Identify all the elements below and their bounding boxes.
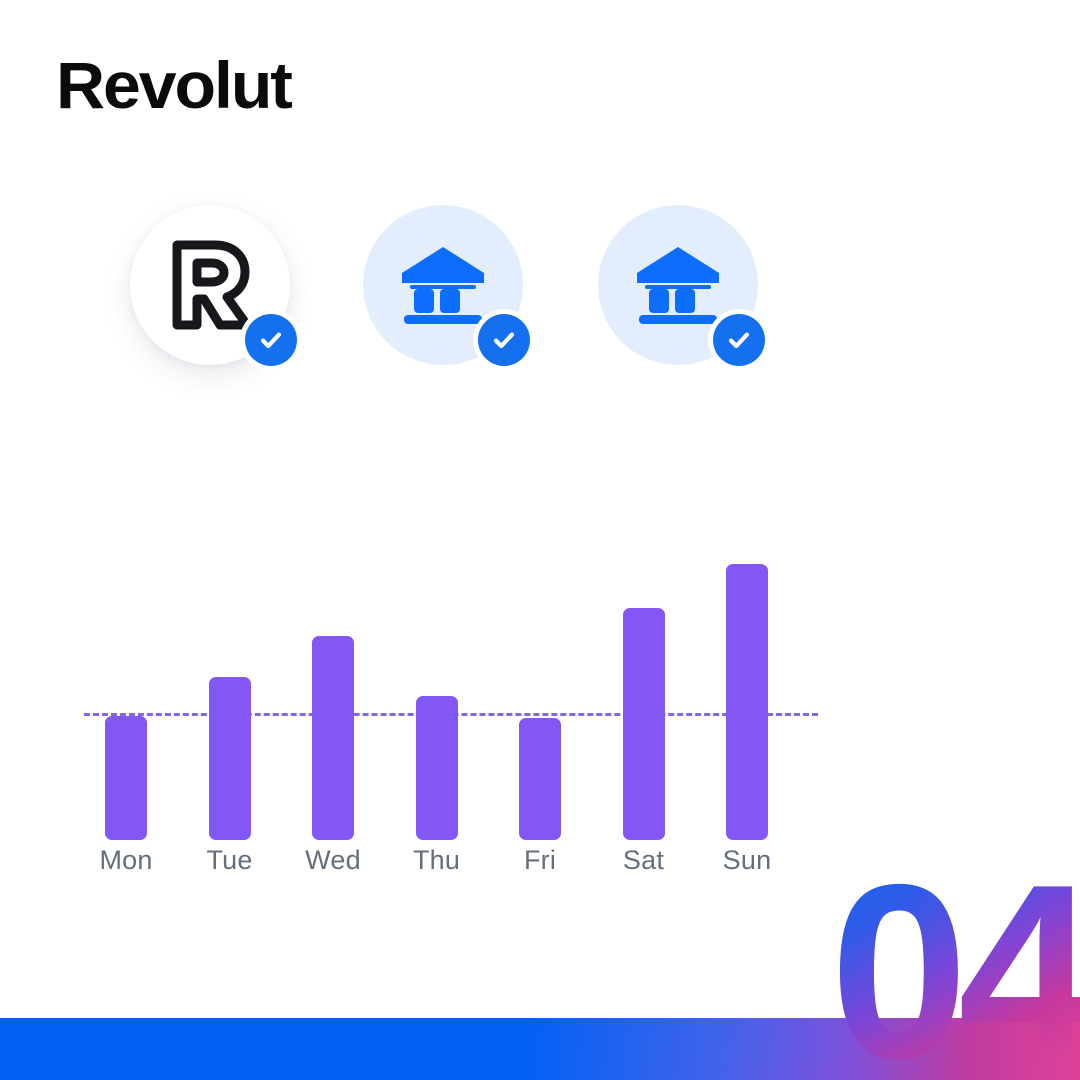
x-label-fri: Fri	[495, 845, 585, 876]
x-label-mon: Mon	[81, 845, 171, 876]
account-card-bank-1[interactable]	[363, 205, 523, 365]
slide-canvas: Revolut	[0, 0, 1080, 1080]
chart-x-axis-labels: MonTueWedThuFriSatSun	[84, 845, 824, 885]
bar-tue[interactable]	[209, 677, 251, 840]
slide-number: 04	[830, 865, 1080, 1078]
x-label-wed: Wed	[288, 845, 378, 876]
chart-plot-area	[84, 550, 824, 840]
account-card-bank-2[interactable]	[598, 205, 758, 365]
x-label-tue: Tue	[185, 845, 275, 876]
connected-accounts-row	[0, 0, 1080, 420]
verified-badge	[473, 309, 535, 371]
bar-wed[interactable]	[312, 636, 354, 840]
bar-sun[interactable]	[726, 564, 768, 840]
x-label-sat: Sat	[599, 845, 689, 876]
verified-badge	[240, 309, 302, 371]
account-card-revolut[interactable]	[130, 205, 290, 365]
bar-sat[interactable]	[623, 608, 665, 840]
bar-fri[interactable]	[519, 718, 561, 840]
verified-badge	[708, 309, 770, 371]
bar-mon[interactable]	[105, 716, 147, 840]
x-label-thu: Thu	[392, 845, 482, 876]
x-label-sun: Sun	[702, 845, 792, 876]
bar-thu[interactable]	[416, 696, 458, 840]
